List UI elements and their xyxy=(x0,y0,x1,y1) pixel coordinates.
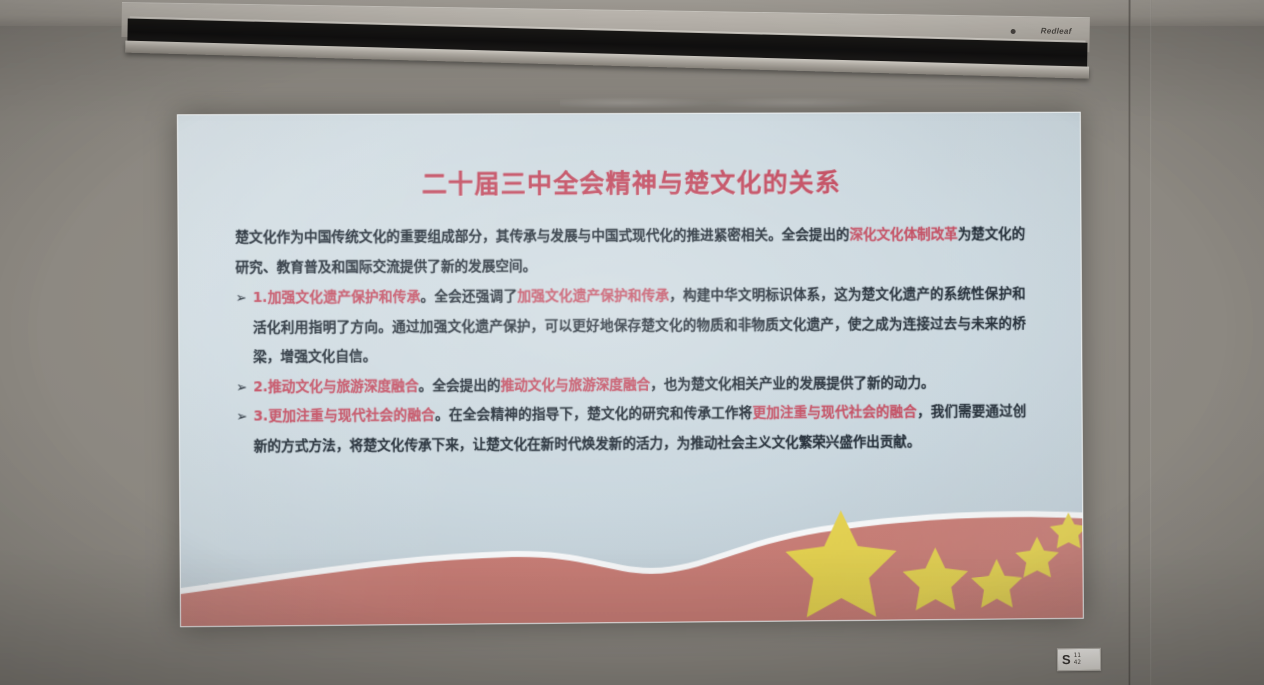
list-item: ➢ 1.加强文化遗产保护和传承。全会还强调了加强文化遗产保护和传承，构建中华文明… xyxy=(236,280,1026,373)
bullet-arrow-icon: ➢ xyxy=(236,284,247,314)
housing-brand-label: Redleaf xyxy=(1041,26,1072,35)
item-1-mid: 。全会还强调了 xyxy=(420,289,517,306)
slide-content: 二十届三中全会精神与楚文化的关系 楚文化作为中国传统文化的重要组成部分，其传承与… xyxy=(178,113,1083,627)
item-1-number: 1. xyxy=(253,290,268,306)
bullet-arrow-icon: ➢ xyxy=(236,403,247,433)
intro-pre: 楚文化作为中国传统文化的重要组成部分，其传承与发展与中国式现代化的推进紧密相关。… xyxy=(235,227,849,246)
slide-title: 二十届三中全会精神与楚文化的关系 xyxy=(235,163,1025,202)
slide-surface: 二十届三中全会精神与楚文化的关系 楚文化作为中国传统文化的重要组成部分，其传承与… xyxy=(177,112,1084,628)
housing-indicator-dot xyxy=(1011,29,1016,34)
item-3-highlight2: 更加注重与现代社会的融合 xyxy=(752,404,917,421)
item-3-number: 3. xyxy=(253,408,268,424)
sticker-code: 11 42 xyxy=(1074,653,1081,666)
wall-sticker-label: S 11 42 xyxy=(1057,648,1101,671)
item-3-mid: 。在全会精神的指导下，楚文化的研究和传承工作将 xyxy=(435,405,753,423)
item-1-heading: 加强文化遗产保护和传承 xyxy=(267,289,420,306)
wall-corner-highlight xyxy=(1150,0,1152,685)
list-item-text: 3.更加注重与现代社会的融合。在全会精神的指导下，楚文化的研究和传承工作将更加注… xyxy=(253,397,1026,461)
list-item: ➢ 3.更加注重与现代社会的融合。在全会精神的指导下，楚文化的研究和传承工作将更… xyxy=(236,397,1026,461)
item-1-highlight2: 加强文化遗产保护和传承 xyxy=(517,288,669,305)
intro-highlight: 深化文化体制改革 xyxy=(849,227,957,243)
item-2-highlight2: 推动文化与旅游深度融合 xyxy=(500,376,650,393)
classroom-projection-photo: Redleaf xyxy=(0,0,1264,685)
wall-corner-seam xyxy=(1128,0,1131,685)
slide-body: 楚文化作为中国传统文化的重要组成部分，其传承与发展与中国式现代化的推进紧密相关。… xyxy=(235,220,1026,462)
item-2-heading: 推动文化与旅游深度融合 xyxy=(268,378,419,395)
item-2-number: 2. xyxy=(253,379,268,395)
bullet-arrow-icon: ➢ xyxy=(236,373,247,403)
item-2-tail: ，也为楚文化相关产业的发展提供了新的动力。 xyxy=(650,375,934,393)
intro-paragraph: 楚文化作为中国传统文化的重要组成部分，其传承与发展与中国式现代化的推进紧密相关。… xyxy=(235,220,1025,283)
projected-slide: 二十届三中全会精神与楚文化的关系 楚文化作为中国传统文化的重要组成部分，其传承与… xyxy=(177,112,1084,628)
list-item-text: 1.加强文化遗产保护和传承。全会还强调了加强文化遗产保护和传承，构建中华文明标识… xyxy=(253,280,1026,373)
item-3-heading: 更加注重与现代社会的融合 xyxy=(268,407,435,424)
sticker-glyph: S xyxy=(1062,653,1071,666)
item-2-mid: 。全会提出的 xyxy=(419,377,501,394)
sticker-code-bottom: 42 xyxy=(1074,658,1081,665)
